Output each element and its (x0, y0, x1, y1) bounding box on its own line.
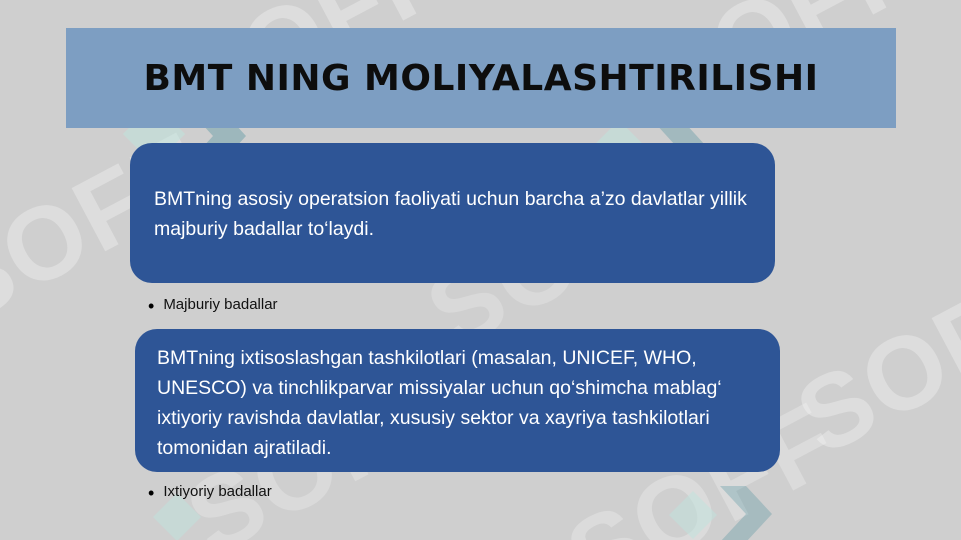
bullet-item-mandatory: • Majburiy badallar (148, 296, 278, 315)
callout-text: BMTning ixtisoslashgan tashkilotlari (ma… (157, 343, 756, 463)
callout-text: BMTning asosiy operatsion faoliyati uchu… (154, 184, 751, 244)
page-title: BMT NING MOLIYALASHTIRILISHI (143, 58, 818, 99)
bullet-dot-icon: • (148, 484, 154, 502)
bullet-item-voluntary: • Ixtiyoriy badallar (148, 483, 272, 502)
title-band: BMT NING MOLIYALASHTIRILISHI (66, 28, 896, 128)
bullet-label: Majburiy badallar (163, 296, 277, 314)
bullet-dot-icon: • (148, 297, 154, 315)
bullet-label: Ixtiyoriy badallar (163, 483, 271, 501)
callout-box-mandatory: BMTning asosiy operatsion faoliyati uchu… (130, 143, 775, 283)
callout-box-voluntary: BMTning ixtisoslashgan tashkilotlari (ma… (135, 329, 780, 472)
slide: BMT NING MOLIYALASHTIRILISHI BMTning aso… (0, 0, 961, 540)
